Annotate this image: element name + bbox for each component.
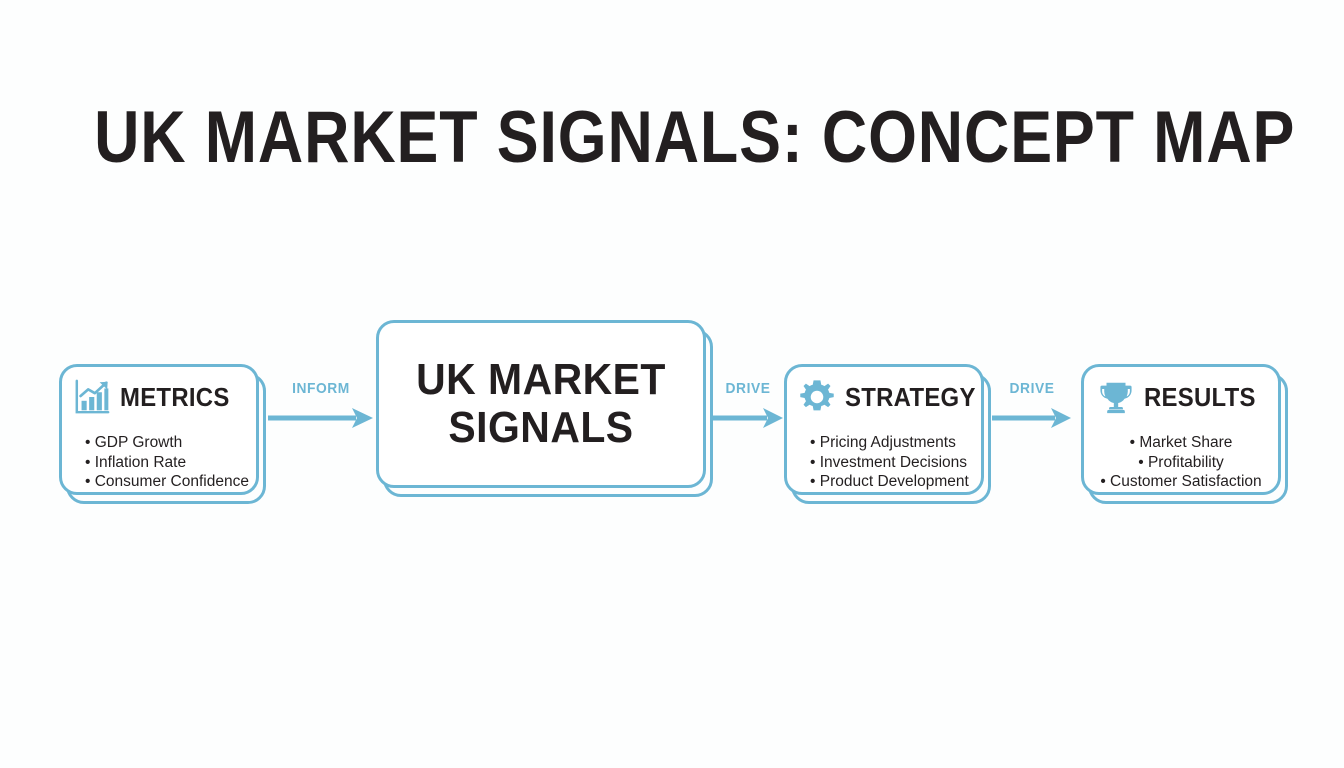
card-results-header: RESULTS [1091,376,1271,416]
list-item: • Product Development [810,472,970,492]
list-item: • Consumer Confidence [85,472,245,492]
concept-map-canvas: UK MARKET SIGNALS: CONCEPT MAP METRICS [0,0,1344,768]
card-hub-title-line1: UK MARKET [416,356,666,404]
list-item: • GDP Growth [85,433,245,453]
card-hub-title: UK MARKET SIGNALS [397,332,685,476]
card-results[interactable]: RESULTS • Market Share • Profitability •… [1081,364,1281,495]
page-title: UK MARKET SIGNALS: CONCEPT MAP [94,101,1250,174]
list-item: • Inflation Rate [85,453,245,473]
list-item: • Market Share [1095,433,1267,453]
arrow-right-icon [268,406,374,430]
arrow-right-icon [712,406,784,430]
list-item: • Investment Decisions [810,453,970,473]
connector-strategy-to-results: DRIVE [992,380,1072,430]
arrow-right-icon [992,406,1072,430]
trophy-icon [1097,378,1135,416]
list-item: • Pricing Adjustments [810,433,970,453]
card-metrics[interactable]: METRICS • GDP Growth • Inflation Rate • … [59,364,259,495]
card-strategy[interactable]: STRATEGY • Pricing Adjustments • Investm… [784,364,984,495]
card-strategy-header: STRATEGY [794,376,974,416]
connector-label-inform: INFORM [272,380,370,397]
bar-chart-growth-icon [73,378,111,416]
connector-hub-to-strategy: DRIVE [712,380,784,430]
card-metrics-title: METRICS [120,384,230,410]
gear-icon [798,378,836,416]
card-strategy-title: STRATEGY [845,384,976,410]
card-strategy-bullet-list: • Pricing Adjustments • Investment Decis… [794,433,974,492]
connector-metrics-to-hub: INFORM [268,380,374,430]
card-hub-title-line2: SIGNALS [448,404,633,452]
list-item: • Customer Satisfaction [1095,472,1267,492]
connector-label-drive-1: DRIVE [715,380,781,397]
card-results-bullet-list: • Market Share • Profitability • Custome… [1091,433,1271,492]
card-metrics-bullet-list: • GDP Growth • Inflation Rate • Consumer… [69,433,249,492]
connector-label-drive-2: DRIVE [995,380,1069,397]
list-item: • Profitability [1095,453,1267,473]
card-metrics-header: METRICS [69,376,249,416]
card-results-title: RESULTS [1144,384,1256,410]
card-uk-market-signals[interactable]: UK MARKET SIGNALS [376,320,706,488]
